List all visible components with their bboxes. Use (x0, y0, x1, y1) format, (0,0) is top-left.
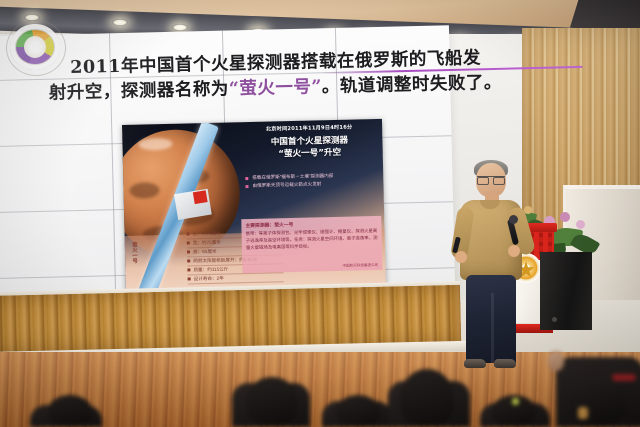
slide-bullet-list: 搭载在俄罗斯“福布斯－土壤”探测器内部 由俄罗斯天顶号运载火箭点火发射 (245, 171, 379, 190)
mars-surface-feature (129, 182, 159, 199)
slide-vertical-label: 萤火一号 (128, 242, 138, 264)
slide-title-block: 北京时间2011年11月9日4时16分 中国首个火星探测器 “萤火一号”升空 (240, 123, 379, 162)
slide-title-line-2: “萤火一号”升空 (241, 146, 379, 162)
slide-headline: 2011年中国首个火星探测器搭载在俄罗斯的飞船发 射升空，探测器名称为“萤火一号… (70, 46, 511, 106)
slide-credit-text: 中国航天科技集团公司 (342, 263, 378, 269)
ceiling-downlight (112, 19, 128, 26)
flower-bloom (560, 212, 570, 222)
seated-children-audience (0, 317, 640, 427)
slide-side-panel-body: 携带：等离子体探测包、光学成像仪、磁强计、掩星仪，探测火星离子逃逸率及高空环境等… (242, 227, 382, 251)
audience-hair-clip (512, 398, 519, 405)
microphone-head (509, 215, 518, 224)
mars-polar-cap (138, 138, 172, 151)
audience-head (570, 375, 626, 427)
screenshot-root: 2011年中国首个火星探测器搭载在俄罗斯的飞船发 射升空，探测器名称为“萤火一号… (0, 0, 640, 427)
school-emblem-ring (6, 20, 66, 76)
audience-collar (612, 374, 636, 381)
audience-head (400, 369, 454, 427)
probe-flag-marker (193, 190, 208, 204)
slide-side-panel: 主要探测器：萤火一号 携带：等离子体探测包、光学成像仪、磁强计、掩星仪，探测火星… (241, 216, 382, 273)
audience-uniform-badge (578, 407, 588, 419)
slide-date-line: 北京时间2011年11月9日4时16分 (240, 123, 378, 133)
ceiling-downlight (172, 24, 188, 31)
audience-head (336, 395, 380, 427)
headline-line-2-a: 射升空，探测器名称为 (49, 79, 229, 103)
slide-illustration: 萤火一号 北京时间2011年11月9日4时16分 中国首个火星探测器 “萤火一号… (122, 119, 386, 290)
audience-hand (548, 351, 564, 371)
presenter-left-hand (455, 251, 467, 263)
headline-line-2-b: 。轨道调整时失败了。 (322, 73, 502, 97)
audience-head (48, 395, 92, 427)
glasses-icon (477, 176, 505, 183)
presenter-right-hand (508, 245, 520, 257)
audience-head (246, 377, 298, 427)
headline-probe-name: “萤火一号” (229, 77, 323, 99)
flower-bloom (576, 220, 585, 229)
